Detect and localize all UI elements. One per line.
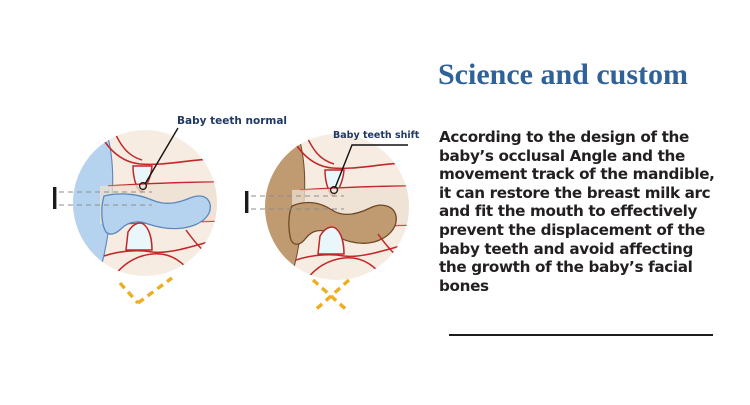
diagram-right	[245, 130, 414, 312]
anatomy-illustrations	[0, 0, 432, 405]
body-paragraph: According to the design of the baby’s oc…	[439, 128, 729, 295]
right-diagram-label: Baby teeth shift	[333, 130, 419, 141]
left-verdict-check-icon	[120, 278, 172, 303]
horizontal-divider	[449, 334, 713, 336]
diagram-area: Baby teeth normal Baby teeth shift	[0, 0, 432, 405]
right-alignment-bar-icon	[245, 191, 248, 213]
right-verdict-cross-icon	[313, 280, 349, 312]
diagram-left	[53, 126, 222, 303]
text-column: Science and custom According to the desi…	[432, 48, 732, 348]
page-title: Science and custom	[438, 58, 688, 92]
left-alignment-bar-icon	[53, 187, 56, 209]
left-diagram-label: Baby teeth normal	[177, 115, 287, 127]
slide-canvas: Baby teeth normal Baby teeth shift Scien…	[0, 0, 750, 405]
